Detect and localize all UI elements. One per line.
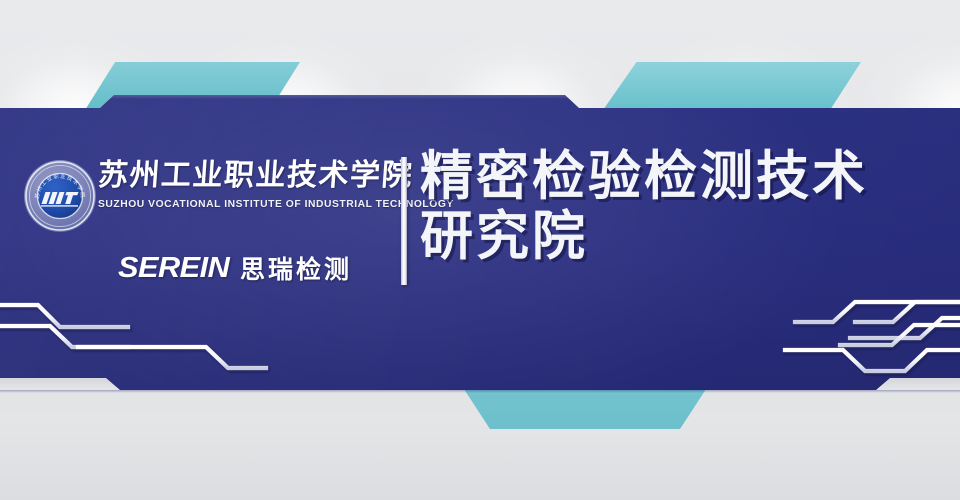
emblem-graphic: 苏州工业职业技术学院 [22,158,98,234]
signage-scene: 苏州工业职业技术学院 苏州工业职业技术学院 SUZHOU VOCATIONAL … [0,0,960,500]
page-title-line1: 精密检验检测技术 [420,147,950,207]
university-name-block: 苏州工业职业技术学院 SUZHOU VOCATIONAL INSTITUTE O… [98,157,398,210]
serein-brand-en: SEREIN [118,252,229,285]
page-title-line2: 研究院 [420,207,950,267]
wall-uplight-glow [395,0,645,110]
page-title: 精密检验检测技术 研究院 [420,147,950,267]
serein-brand-cn: 思瑞检测 [240,250,352,286]
panel-content: 苏州工业职业技术学院 苏州工业职业技术学院 SUZHOU VOCATIONAL … [0,95,960,390]
university-name-cn: 苏州工业职业技术学院 [97,157,400,195]
vertical-divider-bar [401,157,407,285]
panel-base-shadow [0,390,960,393]
serein-brand-lockup: SEREIN 思瑞检测 [118,250,352,286]
siit-university-emblem: 苏州工业职业技术学院 [22,158,98,234]
university-name-en: SUZHOU VOCATIONAL INSTITUTE OF INDUSTRIA… [98,199,398,210]
wall-uplight-glow [840,0,960,110]
